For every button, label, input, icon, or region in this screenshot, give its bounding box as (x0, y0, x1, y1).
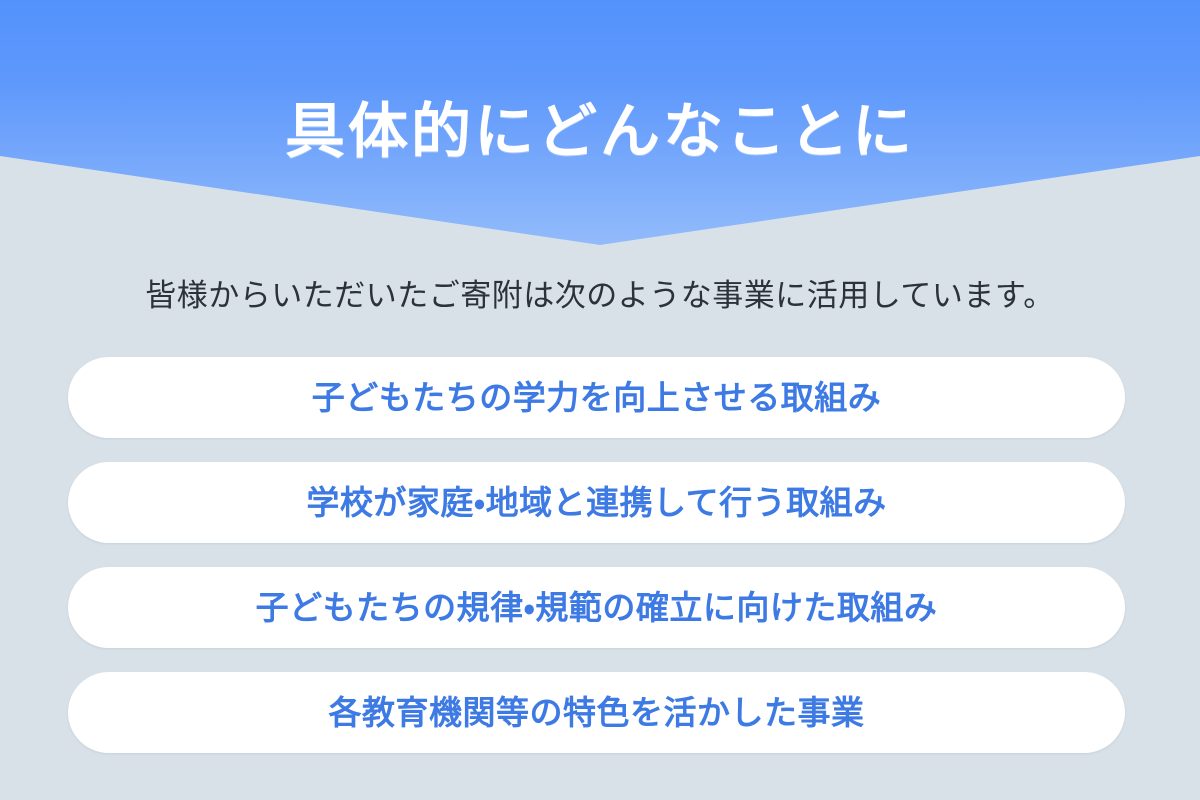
list-item-label: 学校が家庭・地域と連携して行う取組み (306, 486, 886, 519)
list-item-label: 子どもたちの学力を向上させる取組み (312, 381, 882, 414)
usage-list: 子どもたちの学力を向上させる取組み 学校が家庭・地域と連携して行う取組み 子ども… (68, 357, 1125, 753)
main-content: 皆様からいただいたご寄附は次のような事業に活用しています。 子どもたちの学力を向… (0, 250, 1200, 800)
list-item-label: 各教育機関等の特色を活かした事業 (329, 696, 865, 729)
list-item[interactable]: 各教育機関等の特色を活かした事業 (68, 672, 1125, 753)
page-title-line-1: 具体的にどんなことに (0, 94, 1200, 170)
list-item[interactable]: 子どもたちの学力を向上させる取組み (68, 357, 1125, 438)
list-item[interactable]: 子どもたちの規律・規範の確立に向けた取組み (68, 567, 1125, 648)
list-item[interactable]: 学校が家庭・地域と連携して行う取組み (68, 462, 1125, 543)
page-root: 具体的にどんなことに 使っているの？ 皆様からいただいたご寄附は次のような事業に… (0, 0, 1200, 800)
list-item-label: 子どもたちの規律・規範の確立に向けた取組み (256, 591, 938, 624)
lead-paragraph: 皆様からいただいたご寄附は次のような事業に活用しています。 (0, 276, 1200, 316)
header-banner: 具体的にどんなことに 使っているの？ (0, 0, 1200, 250)
